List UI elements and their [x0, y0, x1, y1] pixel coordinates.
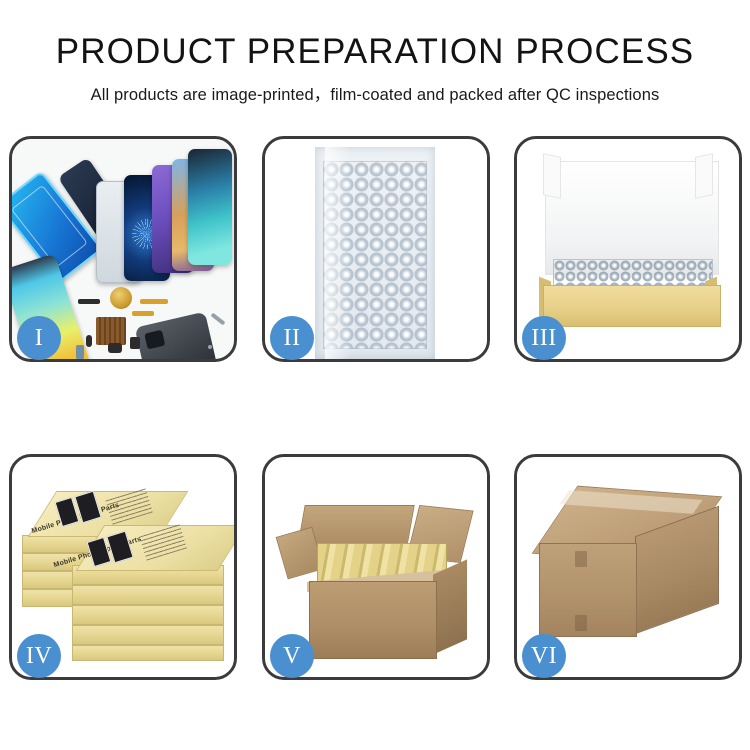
panel-badge-iii: III — [522, 316, 566, 360]
panel-i: I — [9, 136, 243, 368]
flex-cable-icon — [140, 299, 168, 304]
process-panel-grid: I II — [0, 136, 750, 696]
phone-back-housing-icon — [135, 312, 218, 359]
part-tool-icon — [210, 312, 225, 325]
panel-badge-i: I — [17, 316, 61, 360]
page-title: PRODUCT PREPARATION PROCESS — [0, 32, 750, 72]
stacked-box-edge — [72, 645, 224, 661]
page-header: PRODUCT PREPARATION PROCESS All products… — [0, 0, 750, 105]
sealed-carton-front-face-icon — [539, 543, 637, 637]
panel-badge-vi: VI — [522, 634, 566, 678]
stacked-box-edge — [72, 585, 224, 605]
panel-badge-v: V — [270, 634, 314, 678]
panel-v: V — [262, 454, 496, 686]
flex-cable-secondary-icon — [132, 311, 154, 316]
inner-box-right-flap-icon — [695, 153, 713, 199]
bubble-wrap-sheet-icon — [315, 147, 435, 359]
inner-box-back-panel-icon — [545, 161, 719, 275]
chip-grid-icon — [96, 317, 126, 345]
part-camera-icon — [108, 343, 122, 353]
page-subtitle: All products are image-printed，film-coat… — [0, 81, 750, 105]
part-connector-icon — [130, 337, 140, 349]
panel-iii: III — [514, 136, 748, 368]
carton-side-face-icon — [433, 559, 467, 654]
panel-badge-ii: II — [270, 316, 314, 360]
teal-phone-icon — [188, 149, 232, 265]
bubble-highlight — [325, 147, 351, 359]
part-speaker-icon — [78, 299, 100, 304]
panel-vi: VI — [514, 454, 748, 686]
part-battery-icon — [76, 345, 84, 359]
inner-box-left-flap-icon — [543, 153, 561, 199]
panel-badge-iv: IV — [17, 634, 61, 678]
inner-box-front-panel-icon — [543, 285, 721, 327]
stacked-box-edge — [72, 605, 224, 625]
part-button-icon — [86, 335, 92, 347]
part-screw-set-icon — [208, 345, 212, 349]
carton-handle-notch-top-icon — [575, 551, 587, 567]
carton-handle-notch-bottom-icon — [575, 615, 587, 631]
panel-ii: II — [262, 136, 496, 368]
stacked-box-edge — [72, 625, 224, 645]
copper-coil-icon — [110, 287, 132, 309]
panel-iv: Mobile Phone Spare Parts Mobile Phone Sp… — [9, 454, 243, 686]
carton-front-face-icon — [309, 581, 437, 659]
